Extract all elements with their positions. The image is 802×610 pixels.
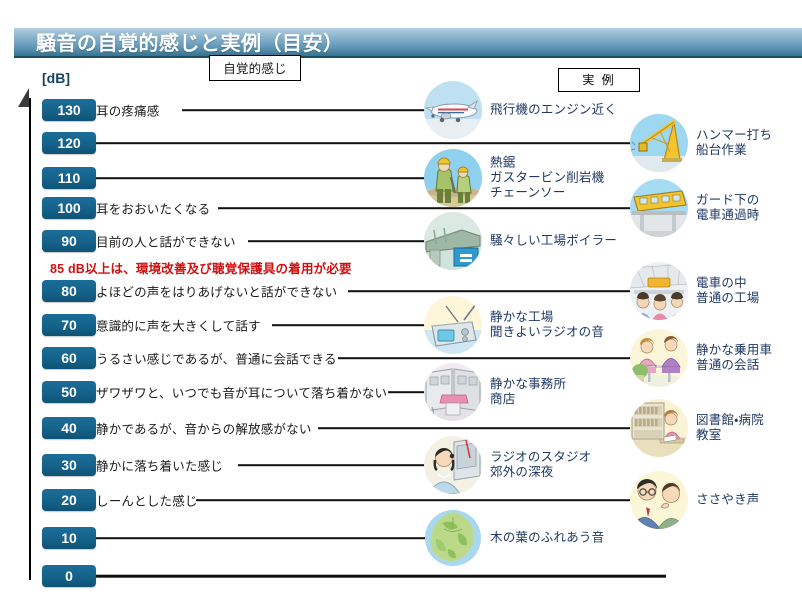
example-label-line: 郊外の深夜 bbox=[490, 465, 591, 480]
db-badge: 50 bbox=[42, 381, 96, 403]
example-label-line: 静かな事務所 bbox=[490, 377, 566, 391]
example-label-line: 木の葉のふれあう音 bbox=[490, 531, 604, 545]
leader-line bbox=[388, 391, 426, 393]
example-label: ラジオのスタジオ郊外の深夜 bbox=[490, 450, 591, 480]
example-label-line: ガスタービン削岩機 bbox=[490, 171, 604, 186]
example-label-line: ささやき声 bbox=[696, 493, 760, 507]
example-item: 木の葉のふれあう音 bbox=[424, 509, 724, 567]
axis-arrow-icon bbox=[18, 88, 29, 107]
db-badge: 80 bbox=[42, 280, 96, 302]
workers-drill-icon bbox=[424, 149, 482, 207]
db-badge: 70 bbox=[42, 314, 96, 336]
db-badge: 30 bbox=[42, 454, 96, 476]
leader-line bbox=[182, 109, 428, 111]
db-badge: 40 bbox=[42, 417, 96, 439]
airplane-icon bbox=[424, 81, 482, 139]
example-label-line: チェーンソー bbox=[490, 186, 604, 201]
db-badge: 90 bbox=[42, 230, 96, 252]
leader-line bbox=[218, 207, 632, 209]
column-header-feeling: 自覚的感じ bbox=[209, 55, 301, 81]
example-label: 熱鋸ガスタービン削岩機チェーンソー bbox=[490, 156, 604, 201]
db-unit-label: [dB] bbox=[42, 70, 70, 86]
example-label-line: ガード下の bbox=[696, 193, 760, 207]
leader-line bbox=[338, 357, 634, 359]
radio-studio-icon bbox=[424, 436, 482, 494]
db-badge: 100 bbox=[42, 197, 96, 219]
db-badge: 60 bbox=[42, 347, 96, 369]
leader-line bbox=[96, 142, 634, 144]
example-label-line: 静かな乗用車 bbox=[696, 343, 772, 357]
example-label-line: 熱鋸 bbox=[490, 156, 515, 170]
feeling-label: 静かであるが、音からの解放感がない bbox=[96, 419, 312, 438]
example-label-line: 電車の中 bbox=[696, 276, 747, 290]
warning-text: 85 dB以上は、環境改善及び聴覚保護具の着用が必要 bbox=[50, 258, 352, 277]
leader-line bbox=[96, 537, 426, 539]
example-label: 騒々しい工場ボイラー bbox=[490, 234, 617, 249]
noise-level-chart: 騒音の自覚的感じと実例（目安） [dB] 自覚的感じ 実 例 85 dB以上は、… bbox=[0, 0, 802, 610]
example-label-line: 商店 bbox=[490, 392, 566, 407]
db-badge: 10 bbox=[42, 527, 96, 549]
leaves-globe-icon bbox=[424, 509, 482, 567]
feeling-label: 耳の疼痛感 bbox=[96, 101, 160, 120]
feeling-label: うるさい感じであるが、普通に会話できる bbox=[96, 349, 337, 368]
example-label: ささやき声 bbox=[696, 493, 760, 508]
example-label-line: 飛行機のエンジン近く bbox=[490, 103, 617, 117]
feeling-label: 意識的に声を大きくして話す bbox=[96, 316, 261, 335]
leader-line bbox=[318, 427, 634, 429]
vertical-axis bbox=[29, 98, 31, 580]
example-label-line: 図書館・病院 bbox=[696, 413, 764, 427]
leader-line bbox=[196, 499, 634, 501]
example-label-line: ラジオのスタジオ bbox=[490, 450, 591, 464]
feeling-label: 目前の人と話ができない bbox=[96, 232, 236, 251]
feeling-label: ザワザワと、いつでも音が耳について落ち着かない bbox=[96, 383, 387, 402]
feeling-label: よほどの声をはりあげないと話ができない bbox=[96, 282, 337, 301]
db-badge: 20 bbox=[42, 489, 96, 511]
leader-line bbox=[96, 177, 426, 179]
db-badge: 130 bbox=[42, 99, 96, 121]
feeling-label: しーんとした感じ bbox=[96, 491, 198, 510]
leader-line bbox=[272, 324, 426, 326]
shop-street-icon bbox=[424, 363, 482, 421]
example-label-line: ハンマー打ち bbox=[696, 128, 772, 142]
db-badge: 110 bbox=[42, 167, 96, 189]
leader-line bbox=[238, 464, 426, 466]
page-title: 騒音の自覚的感じと実例（目安） bbox=[36, 27, 344, 56]
example-label: 木の葉のふれあう音 bbox=[490, 531, 604, 546]
title-bar: 騒音の自覚的感じと実例（目安） bbox=[14, 28, 802, 58]
example-label-line: 騒々しい工場ボイラー bbox=[490, 234, 617, 248]
db-badge: 120 bbox=[42, 132, 96, 154]
leader-line bbox=[248, 240, 426, 242]
example-label-line: 聞きよいラジオの音 bbox=[490, 325, 604, 340]
example-label: 飛行機のエンジン近く bbox=[490, 103, 617, 118]
leader-line bbox=[348, 290, 634, 292]
factory-boiler-icon bbox=[424, 212, 482, 270]
example-label: 静かな工場聞きよいラジオの音 bbox=[490, 310, 604, 340]
radio-icon bbox=[424, 296, 482, 354]
example-label-line: 静かな工場 bbox=[490, 310, 554, 324]
feeling-label: 静かに落ち着いた感じ bbox=[96, 456, 223, 475]
example-label: 静かな事務所商店 bbox=[490, 377, 566, 407]
feeling-label: 耳をおおいたくなる bbox=[96, 199, 210, 218]
db-badge: 0 bbox=[42, 565, 96, 587]
leader-line bbox=[96, 575, 666, 578]
